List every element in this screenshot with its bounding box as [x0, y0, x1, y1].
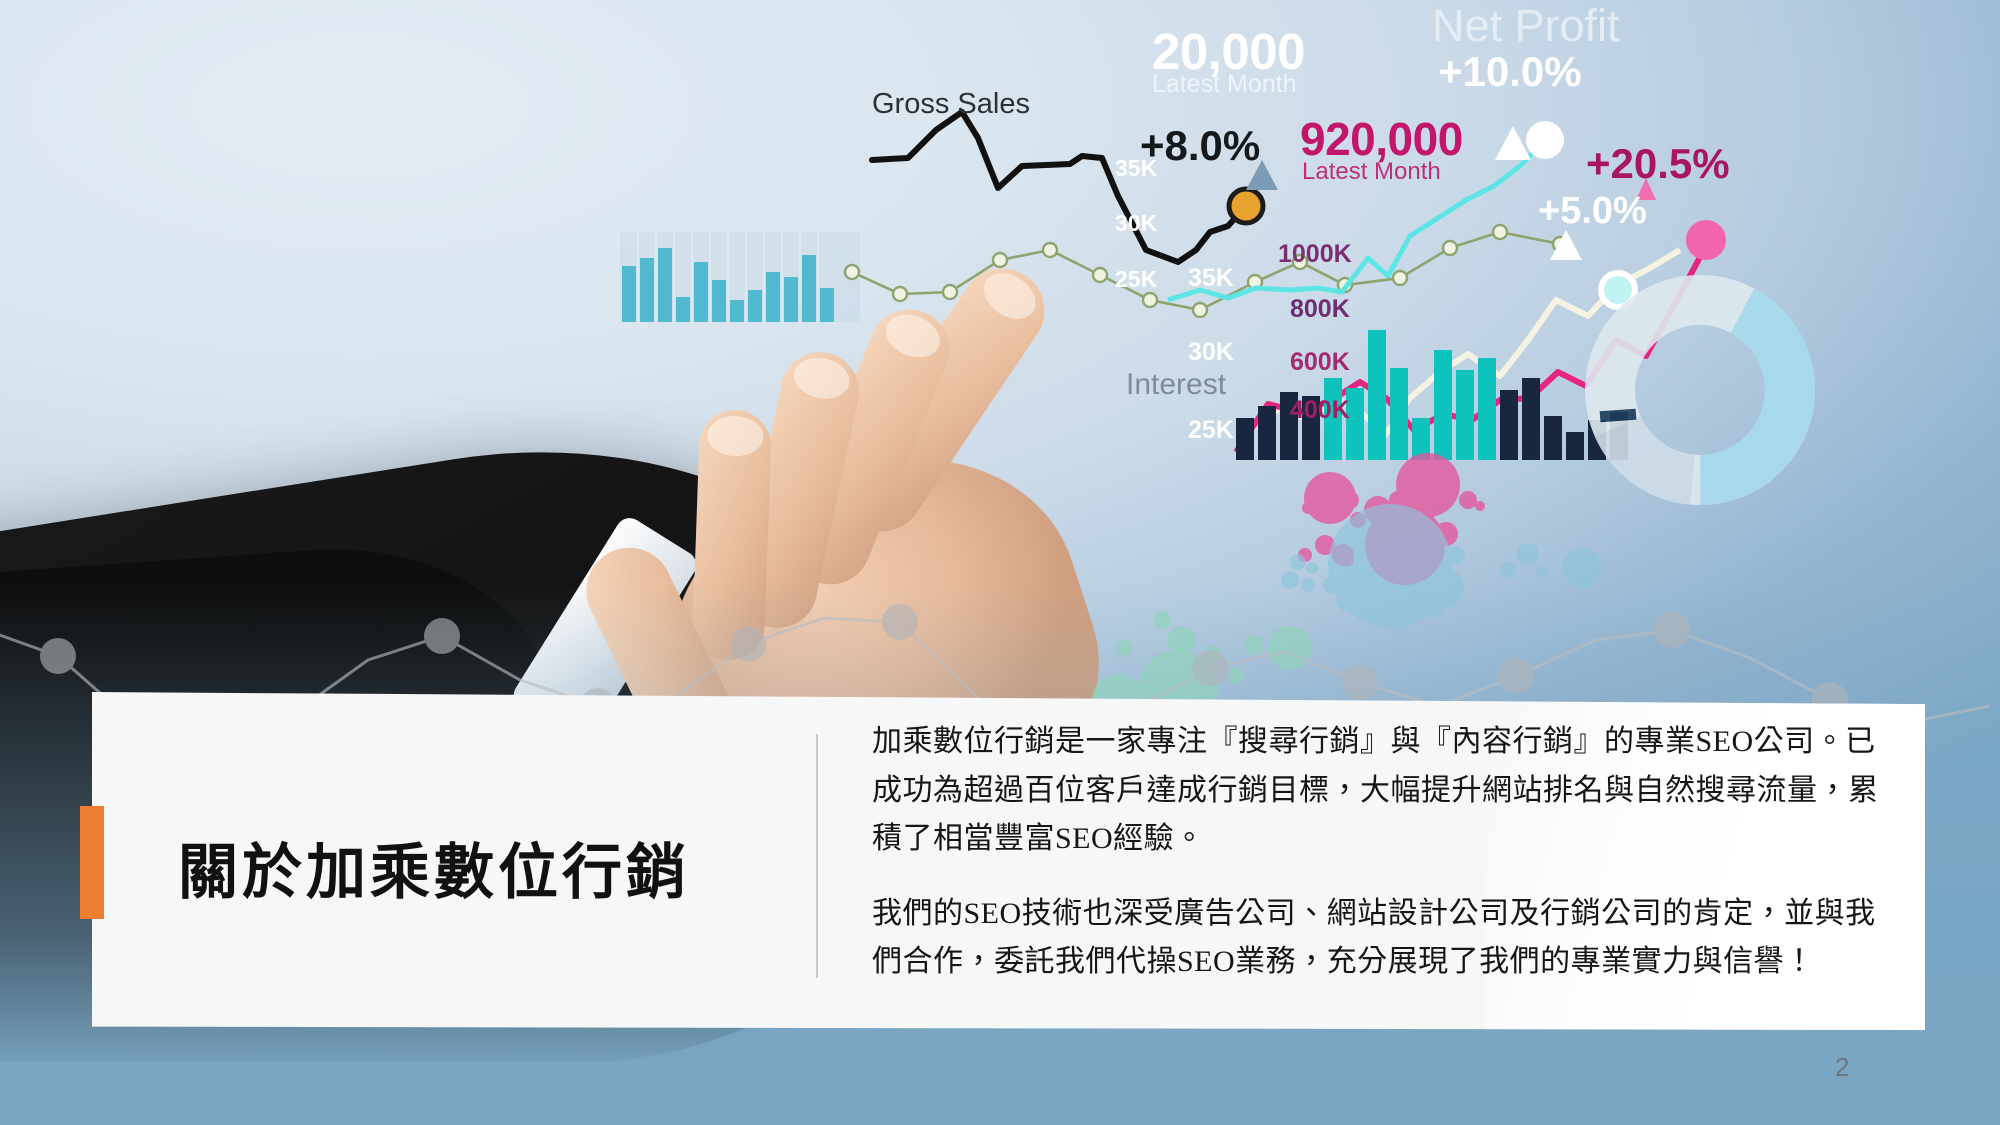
orange-accent-bar	[80, 806, 104, 919]
vertical-divider	[816, 734, 818, 978]
body-paragraph-1: 加乘數位行銷是一家專注『搜尋行銷』與『內容行銷』的專業SEO公司。已成功為超過百…	[872, 718, 1892, 864]
page-number: 2	[1835, 1052, 1849, 1083]
page-title: 關於加乘數位行銷	[178, 840, 758, 906]
body-paragraph-2: 我們的SEO技術也深受廣告公司、網站設計公司及行銷公司的肯定，並與我們合作，委託…	[872, 890, 1892, 987]
fingernail	[790, 353, 853, 404]
fingernail	[975, 264, 1044, 328]
body-copy: 加乘數位行銷是一家專注『搜尋行銷』與『內容行銷』的專業SEO公司。已成功為超過百…	[872, 718, 1892, 987]
slide-root: Gross Sales 20,000 Latest Month +8.0% 35…	[0, 0, 2000, 1125]
fingernail	[707, 415, 764, 457]
fingernail	[879, 307, 946, 365]
finger-pinky	[692, 409, 773, 661]
